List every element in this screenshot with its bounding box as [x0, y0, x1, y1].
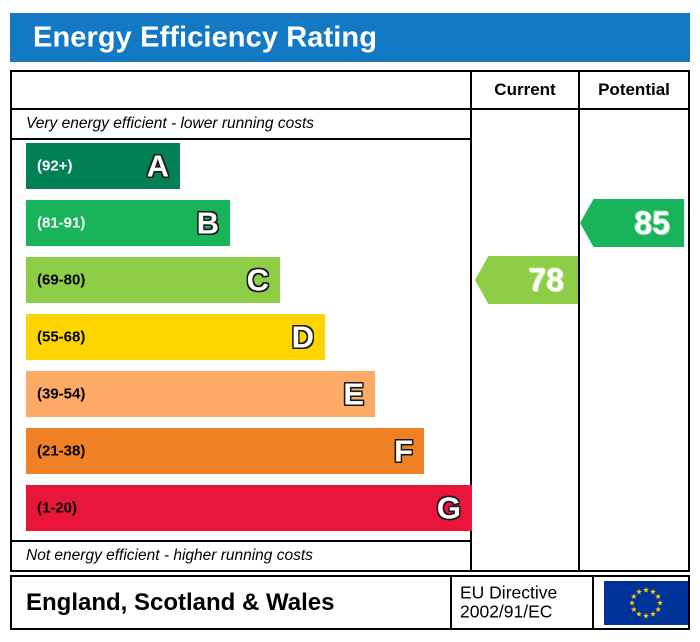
current-rating-marker: 78 — [475, 256, 578, 304]
rating-bands: (92+)A(81-91)B(69-80)C(55-68)D(39-54)E(2… — [12, 140, 470, 540]
footer-divider-2 — [592, 577, 594, 628]
band-letter-b: B — [197, 208, 219, 239]
footer-divider-1 — [450, 577, 452, 628]
rating-band-g: (1-20)G — [26, 485, 472, 531]
band-letter-f: F — [394, 436, 413, 467]
footer: England, Scotland & Wales EU Directive 2… — [10, 575, 690, 630]
rating-band-c: (69-80)C — [26, 257, 280, 303]
eu-flag-icon — [604, 581, 688, 625]
energy-efficiency-certificate: Energy Efficiency Rating Current Potenti… — [0, 0, 700, 642]
rating-band-f: (21-38)F — [26, 428, 424, 474]
current-rating-value: 78 — [528, 264, 564, 296]
column-divider-potential — [578, 72, 580, 570]
band-range-d: (55-68) — [37, 329, 85, 346]
rating-table: Current Potential Very energy efficient … — [10, 70, 690, 572]
rating-band-e: (39-54)E — [26, 371, 375, 417]
band-range-b: (81-91) — [37, 215, 85, 232]
chart-title-bar: Energy Efficiency Rating — [10, 13, 690, 62]
directive-line-1: EU Directive — [460, 582, 557, 602]
band-letter-d: D — [292, 322, 314, 353]
band-range-e: (39-54) — [37, 386, 85, 403]
band-range-g: (1-20) — [37, 500, 77, 517]
note-very-efficient: Very energy efficient - lower running co… — [12, 110, 470, 140]
band-range-f: (21-38) — [37, 443, 85, 460]
rating-band-b: (81-91)B — [26, 200, 230, 246]
band-letter-e: E — [343, 379, 364, 410]
band-letter-g: G — [437, 493, 461, 524]
band-range-a: (92+) — [37, 158, 72, 175]
directive-line-2: 2002/91/EC — [460, 602, 552, 622]
eu-flag-stars-icon — [604, 581, 688, 625]
band-letter-c: C — [247, 265, 269, 296]
footer-region-label: England, Scotland & Wales — [26, 589, 334, 617]
rating-scale-column: Very energy efficient - lower running co… — [12, 110, 470, 570]
rating-band-a: (92+)A — [26, 143, 180, 189]
rating-band-d: (55-68)D — [26, 314, 325, 360]
column-header-potential: Potential — [580, 72, 688, 110]
band-letter-a: A — [147, 151, 169, 182]
potential-rating-marker: 85 — [580, 199, 684, 247]
note-not-efficient: Not energy efficient - higher running co… — [12, 540, 470, 570]
band-range-c: (69-80) — [37, 272, 85, 289]
page-title: Energy Efficiency Rating — [33, 21, 377, 54]
column-header-current: Current — [472, 72, 578, 110]
potential-rating-value: 85 — [634, 207, 670, 239]
footer-directive-label: EU Directive 2002/91/EC — [460, 583, 557, 622]
